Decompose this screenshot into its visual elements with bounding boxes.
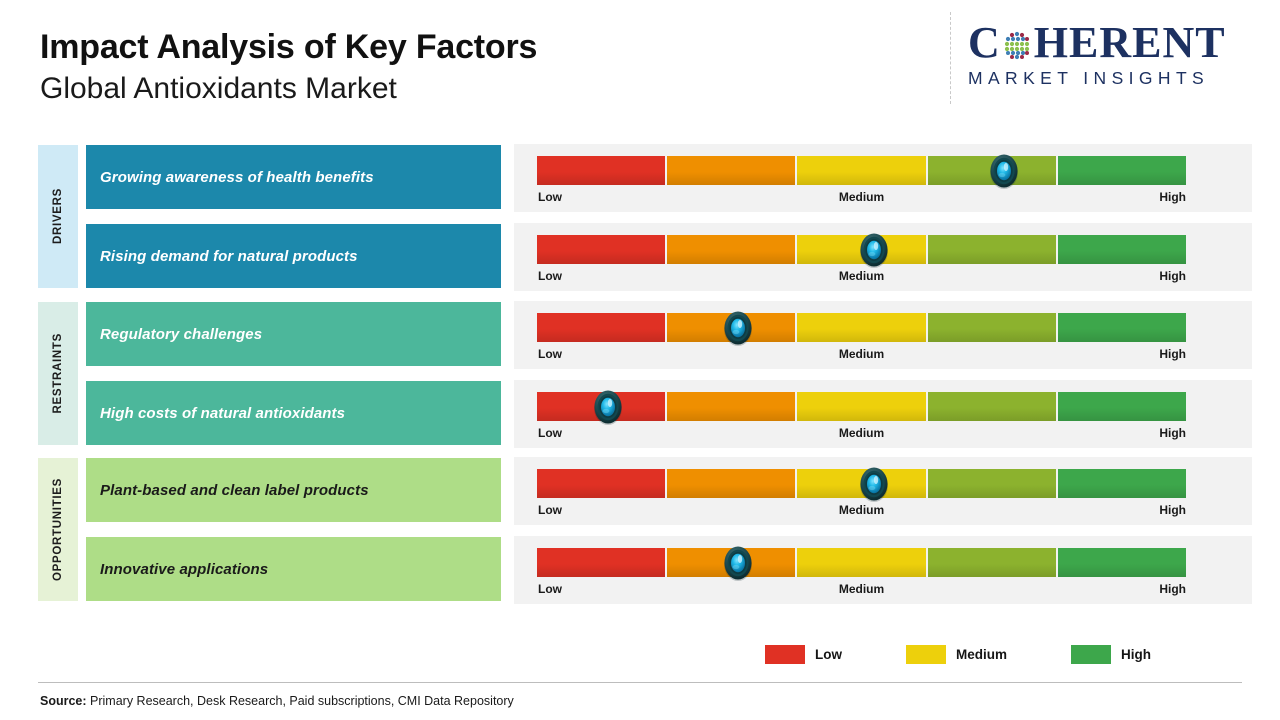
footer-divider	[38, 682, 1242, 683]
gauge-panel: LowMediumHigh	[514, 144, 1252, 212]
scale-label-medium: Medium	[839, 347, 884, 361]
impact-marker[interactable]	[719, 543, 757, 583]
gauge-segment-4[interactable]	[928, 235, 1056, 264]
gauge-panel: LowMediumHigh	[514, 301, 1252, 369]
gauge-segment-5[interactable]	[1058, 392, 1186, 421]
category-cell-restraints: RESTRAINTS	[38, 302, 78, 445]
scale-label-medium: Medium	[839, 582, 884, 596]
gauge-segment-5[interactable]	[1058, 313, 1186, 342]
category-cell-opportunities: OPPORTUNITIES	[38, 458, 78, 601]
scale-label-low: Low	[538, 190, 562, 204]
scale-label-high: High	[1159, 503, 1186, 517]
source-label: Source:	[40, 694, 87, 708]
gauge-segment-5[interactable]	[1058, 235, 1186, 264]
category-label: OPPORTUNITIES	[52, 478, 64, 581]
source-note: Source: Primary Research, Desk Research,…	[40, 694, 514, 708]
legend-label: Low	[815, 647, 842, 662]
gauge-segment-1[interactable]	[537, 313, 665, 342]
gauge-panel: LowMediumHigh	[514, 380, 1252, 448]
gauge-panel: LowMediumHigh	[514, 457, 1252, 525]
gauge-track[interactable]	[537, 548, 1186, 577]
scale-label-high: High	[1159, 269, 1186, 283]
factor-bar[interactable]: Rising demand for natural products	[86, 224, 501, 288]
factor-bar[interactable]: Regulatory challenges	[86, 302, 501, 366]
gauge-segment-4[interactable]	[928, 313, 1056, 342]
factor-bar[interactable]: Plant-based and clean label products	[86, 458, 501, 522]
gauge-segment-1[interactable]	[537, 156, 665, 185]
scale-label-medium: Medium	[839, 269, 884, 283]
legend-label: Medium	[956, 647, 1007, 662]
impact-marker[interactable]	[985, 151, 1023, 191]
factor-label: Innovative applications	[100, 561, 268, 578]
scale-label-low: Low	[538, 269, 562, 283]
gauge-segment-5[interactable]	[1058, 156, 1186, 185]
gauge-segment-4[interactable]	[928, 392, 1056, 421]
gauge-scale: LowMediumHigh	[537, 426, 1186, 444]
gauge-segment-2[interactable]	[667, 235, 795, 264]
gauge-panel: LowMediumHigh	[514, 223, 1252, 291]
scale-label-high: High	[1159, 426, 1186, 440]
gauge-segment-3[interactable]	[797, 156, 925, 185]
scale-label-high: High	[1159, 347, 1186, 361]
scale-label-low: Low	[538, 582, 562, 596]
scale-label-medium: Medium	[839, 426, 884, 440]
gauge-segment-2[interactable]	[667, 469, 795, 498]
category-label: DRIVERS	[52, 188, 64, 244]
gauge-segment-4[interactable]	[928, 469, 1056, 498]
gauge-scale: LowMediumHigh	[537, 503, 1186, 521]
impact-marker[interactable]	[589, 387, 627, 427]
impact-marker[interactable]	[855, 464, 893, 504]
gauge-segment-5[interactable]	[1058, 548, 1186, 577]
category-label: RESTRAINTS	[52, 333, 64, 413]
gauge-segment-4[interactable]	[928, 548, 1056, 577]
factor-label: High costs of natural antioxidants	[100, 405, 345, 422]
scale-label-low: Low	[538, 347, 562, 361]
legend-item[interactable]: Medium	[906, 645, 1007, 664]
factor-label: Rising demand for natural products	[100, 248, 358, 265]
impact-marker[interactable]	[719, 308, 757, 348]
scale-label-low: Low	[538, 503, 562, 517]
scale-label-high: High	[1159, 582, 1186, 596]
impact-matrix: DRIVERSRESTRAINTSOPPORTUNITIESGrowing aw…	[0, 0, 1280, 720]
gauge-segment-3[interactable]	[797, 313, 925, 342]
gauge-segment-1[interactable]	[537, 469, 665, 498]
legend-swatch	[765, 645, 805, 664]
gauge-segment-2[interactable]	[667, 156, 795, 185]
gauge-scale: LowMediumHigh	[537, 582, 1186, 600]
legend-item[interactable]: High	[1071, 645, 1151, 664]
scale-label-low: Low	[538, 426, 562, 440]
gauge-segment-1[interactable]	[537, 548, 665, 577]
legend-swatch	[906, 645, 946, 664]
scale-label-high: High	[1159, 190, 1186, 204]
factor-bar[interactable]: Growing awareness of health benefits	[86, 145, 501, 209]
gauge-segment-3[interactable]	[797, 548, 925, 577]
factor-bar[interactable]: Innovative applications	[86, 537, 501, 601]
gauge-segment-2[interactable]	[667, 392, 795, 421]
factor-label: Regulatory challenges	[100, 326, 262, 343]
gauge-track[interactable]	[537, 313, 1186, 342]
gauge-track[interactable]	[537, 156, 1186, 185]
gauge-panel: LowMediumHigh	[514, 536, 1252, 604]
factor-bar[interactable]: High costs of natural antioxidants	[86, 381, 501, 445]
legend-swatch	[1071, 645, 1111, 664]
gauge-track[interactable]	[537, 392, 1186, 421]
impact-marker[interactable]	[855, 230, 893, 270]
gauge-scale: LowMediumHigh	[537, 347, 1186, 365]
source-text: Primary Research, Desk Research, Paid su…	[87, 694, 514, 708]
scale-label-medium: Medium	[839, 503, 884, 517]
scale-label-medium: Medium	[839, 190, 884, 204]
slide-canvas: Impact Analysis of Key Factors Global An…	[0, 0, 1280, 720]
gauge-segment-5[interactable]	[1058, 469, 1186, 498]
legend-item[interactable]: Low	[765, 645, 842, 664]
factor-label: Plant-based and clean label products	[100, 482, 369, 499]
category-cell-drivers: DRIVERS	[38, 145, 78, 288]
factor-label: Growing awareness of health benefits	[100, 169, 374, 186]
legend: LowMediumHigh	[765, 645, 1151, 664]
gauge-scale: LowMediumHigh	[537, 190, 1186, 208]
gauge-segment-3[interactable]	[797, 392, 925, 421]
legend-label: High	[1121, 647, 1151, 662]
gauge-scale: LowMediumHigh	[537, 269, 1186, 287]
gauge-segment-1[interactable]	[537, 235, 665, 264]
